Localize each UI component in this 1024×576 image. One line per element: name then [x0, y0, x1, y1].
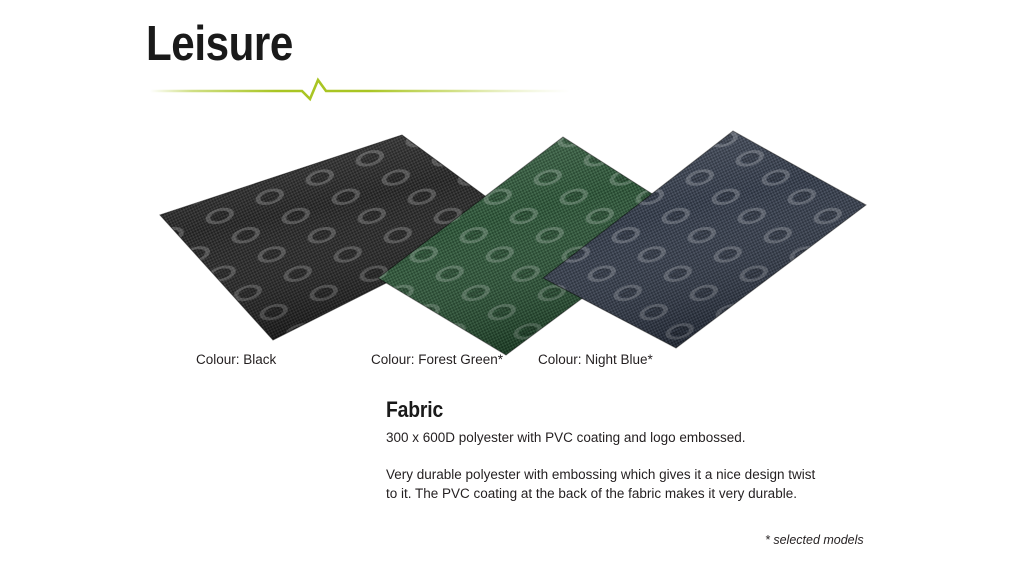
- colour-label-forest-green: Colour: Forest Green*: [371, 352, 503, 368]
- fabric-section: Fabric 300 x 600D polyester with PVC coa…: [386, 398, 886, 504]
- green-zigzag-divider: [150, 74, 570, 102]
- fabric-description-line-1: Very durable polyester with embossing wh…: [386, 465, 886, 485]
- paragraph-spacer: [386, 448, 886, 465]
- page-title: Leisure: [146, 20, 293, 69]
- fabric-spec-text: 300 x 600D polyester with PVC coating an…: [386, 428, 886, 448]
- footnote-selected-models: * selected models: [765, 533, 864, 547]
- colour-label-night-blue: Colour: Night Blue*: [538, 352, 653, 368]
- fabric-description-line-2: to it. The PVC coating at the back of th…: [386, 484, 886, 504]
- fabric-heading: Fabric: [386, 398, 826, 422]
- colour-label-black: Colour: Black: [196, 352, 276, 368]
- fabric-swatch-group: [0, 110, 1024, 360]
